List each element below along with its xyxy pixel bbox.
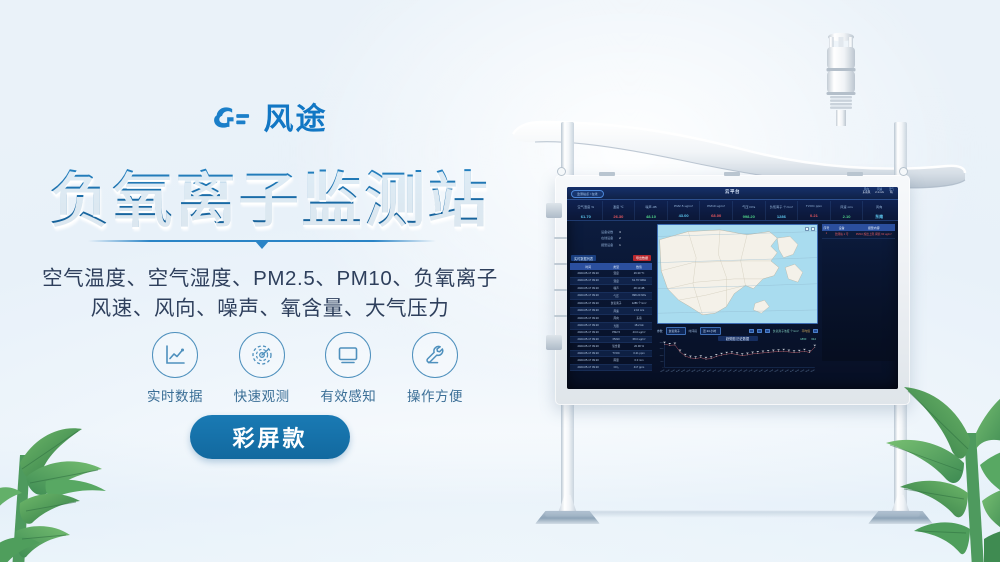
device-counter: 在线设备2 xyxy=(570,236,652,240)
feature-icon-circle xyxy=(152,332,198,378)
svg-text:12:00: 12:00 xyxy=(722,369,727,372)
metric-label: 风速 m/s xyxy=(831,204,863,209)
dashboard-screen[interactable]: 监测站点 / 在线 云平台 风向 东南风 风速 2.1 m/s 天气 xyxy=(567,187,898,389)
dashboard-title: 云平台 xyxy=(567,189,898,195)
svg-text:07:00: 07:00 xyxy=(696,369,701,372)
table-cell: 48.10 dB xyxy=(626,285,652,293)
feature-icon-circle xyxy=(239,332,285,378)
cta-button[interactable]: 彩屏款 xyxy=(190,415,350,459)
mount-tab-icon xyxy=(724,172,740,176)
svg-text:00:00: 00:00 xyxy=(660,369,665,372)
svg-text:02:00: 02:00 xyxy=(671,369,676,372)
chart-view-table-icon[interactable] xyxy=(749,329,754,334)
poster-background: 风途 负氧离子监测站 空气温度、空气湿度、PM2.5、PM10、负氧离子 风速、… xyxy=(0,0,1000,562)
svg-text:03:00: 03:00 xyxy=(676,369,681,372)
metric-card[interactable]: TVOC ppm0.21 xyxy=(798,201,831,220)
svg-text:03:00: 03:00 xyxy=(800,369,805,372)
alarm-col-index: 序号 xyxy=(822,224,831,231)
hanger-eyelet-left-icon xyxy=(557,167,566,176)
table-cell: 2023-05-17 09:20 xyxy=(570,300,606,308)
alarm-col-device: 设备 xyxy=(831,224,853,231)
feature-label: 有效感知 xyxy=(313,385,383,405)
brand-logo: 风途 xyxy=(0,103,540,137)
table-cell: 2023-05-17 09:20 xyxy=(570,322,606,330)
table-cell: 2023-05-17 09:20 xyxy=(570,285,606,293)
svg-text:19:00: 19:00 xyxy=(759,369,764,372)
table-cell: 东南 xyxy=(626,315,652,323)
metric-label: PM2.5 ug/m³ xyxy=(668,204,700,208)
device-counters: 设备总数3在线设备2报警设备1 xyxy=(570,224,652,252)
table-cell: 2023-05-17 09:20 xyxy=(570,270,606,277)
svg-text:24:00: 24:00 xyxy=(785,369,790,372)
svg-text:11:00: 11:00 xyxy=(717,369,722,372)
header-widget: 风向 东南风 xyxy=(863,188,871,194)
table-column-header: 数值 xyxy=(626,263,652,270)
wrench-icon xyxy=(423,343,447,367)
header-widget-value: 晴 xyxy=(889,191,894,194)
display-bezel: 监测站点 / 在线 云平台 风向 东南风 风速 2.1 m/s 天气 xyxy=(555,175,910,405)
device-counter: 报警设备1 xyxy=(570,243,652,247)
export-data-button[interactable]: 导出数据 xyxy=(633,255,651,261)
svg-text:09:00: 09:00 xyxy=(707,369,712,372)
metric-card[interactable]: PM2.5 ug/m³43.00 xyxy=(668,201,701,220)
chart-plot-area: 00:0001:0002:0003:0004:0005:0006:0007:00… xyxy=(657,337,818,375)
metric-value: 998.20 xyxy=(733,214,765,219)
feature-label: 快速观测 xyxy=(227,385,297,405)
chart-range-select[interactable]: 近 24 小时 xyxy=(700,327,721,335)
dashboard-header: 监测站点 / 在线 云平台 风向 东南风 风速 2.1 m/s 天气 xyxy=(567,187,898,200)
alarm-body: 1监测站 1 号PM10 超出上限 阈值 60 ug/m³ xyxy=(822,231,895,239)
feature-item-easy-operation[interactable]: 操作方便 xyxy=(400,332,470,405)
svg-text:20:00: 20:00 xyxy=(764,369,769,372)
table-cell: 2023-05-17 09:20 xyxy=(570,315,606,323)
metric-value: 2.10 xyxy=(831,214,863,219)
metric-cards-row: 空气湿度 %61.70温度 ℃26.30噪声 dB48.10PM2.5 ug/m… xyxy=(567,200,898,221)
table-cell: 温度 xyxy=(606,270,626,277)
metric-card[interactable]: 空气湿度 %61.70 xyxy=(570,201,603,220)
table-cell: 0.0 mm xyxy=(626,357,652,365)
hero-copy-panel: 风途 负氧离子监测站 空气温度、空气湿度、PM2.5、PM10、负氧离子 风速、… xyxy=(0,0,540,562)
table-cell: 雨量 xyxy=(606,357,626,365)
metric-label: 负氧离子 个/cm³ xyxy=(766,204,798,209)
chart-title: 趋势图 历史数据 xyxy=(718,336,758,341)
svg-text:10:00: 10:00 xyxy=(712,369,717,372)
dashboard-body: 设备总数3在线设备2报警设备1 实时数据列表 导出数据 时间类型数值 2023-… xyxy=(567,221,898,373)
table-cell: 1286 个/cm³ xyxy=(626,300,652,308)
monitor-icon xyxy=(336,343,360,367)
table-row[interactable]: 2023-05-17 09:20氧含量20.90 % xyxy=(570,343,652,351)
table-cell: 风速 xyxy=(606,307,626,315)
table-cell: CO₂ xyxy=(606,364,626,371)
metric-label: 空气湿度 % xyxy=(570,204,602,209)
table-row[interactable]: 2023-05-17 09:20光照18.2 klx xyxy=(570,322,652,330)
table-row[interactable]: 2023-05-17 09:20负氧离子1286 个/cm³ xyxy=(570,300,652,308)
svg-text:04:00: 04:00 xyxy=(805,369,810,372)
mount-tab-icon xyxy=(847,172,863,176)
table-cell: 18.2 klx xyxy=(626,322,652,330)
dashboard-left-column: 设备总数3在线设备2报警设备1 实时数据列表 导出数据 时间类型数值 2023-… xyxy=(567,221,655,373)
table-row[interactable]: 2023-05-17 09:20风向东南 xyxy=(570,315,652,323)
chart-controls: 参数 负氧离子 时间段 近 24 小时 负氧离子浓度 个/cm³ 平均值 xyxy=(657,327,818,335)
divider-triangle-icon xyxy=(255,241,269,249)
feature-item-realtime-data[interactable]: 实时数据 xyxy=(140,332,210,405)
table-cell: 湿度 xyxy=(606,277,626,285)
svg-text:05:00: 05:00 xyxy=(810,369,815,372)
header-widget: 天气 晴 xyxy=(889,188,894,194)
counter-value: 1 xyxy=(619,243,621,247)
chart-param-select[interactable]: 负氧离子 xyxy=(666,327,686,335)
svg-text:02:00: 02:00 xyxy=(795,369,800,372)
counter-value: 3 xyxy=(619,230,621,234)
table-cell: 2023-05-17 09:20 xyxy=(570,364,606,371)
dashboard-right-column: 序号 设备 报警内容 1监测站 1 号PM10 超出上限 阈值 60 ug/m³ xyxy=(820,221,898,373)
table-cell: 2023-05-17 09:20 xyxy=(570,307,606,315)
metric-value: 61.70 xyxy=(570,214,602,219)
svg-text:22:00: 22:00 xyxy=(774,369,779,372)
feature-item-fast-observation[interactable]: 快速观测 xyxy=(227,332,297,405)
header-widget: 风速 2.1 m/s xyxy=(875,188,884,194)
metric-label: 噪声 dB xyxy=(635,204,667,209)
vent-slot-icon xyxy=(554,315,567,317)
table-cell: 氧含量 xyxy=(606,343,626,351)
table-cell: 噪声 xyxy=(606,285,626,293)
table-cell: 2023-05-17 09:20 xyxy=(570,343,606,351)
line-chart-icon xyxy=(163,343,187,367)
alarm-cell: 1 xyxy=(822,232,831,236)
vent-slot-icon xyxy=(554,263,567,265)
station-map[interactable] xyxy=(657,224,818,324)
metric-card[interactable]: 风速 m/s2.10 xyxy=(831,201,864,220)
svg-text:17:00: 17:00 xyxy=(748,369,753,372)
svg-text:06:00: 06:00 xyxy=(691,369,696,372)
dashboard-center-column: 参数 负氧离子 时间段 近 24 小时 负氧离子浓度 个/cm³ 平均值 xyxy=(655,221,820,373)
svg-text:1500: 1500 xyxy=(660,348,664,350)
chart-legend-group: 负氧离子浓度 个/cm³ 平均值 xyxy=(749,329,818,334)
table-cell: 2023-05-17 09:20 xyxy=(570,357,606,365)
alarm-row[interactable]: 1监测站 1 号PM10 超出上限 阈值 60 ug/m³ xyxy=(822,231,895,239)
trend-chart[interactable]: 趋势图 历史数据 1860 612 00:0001:0002:0003:0004… xyxy=(657,337,818,375)
table-row[interactable]: 2023-05-17 09:20湿度61.70 %RH xyxy=(570,277,652,285)
post-bracket-top-icon xyxy=(546,203,562,218)
metric-card[interactable]: 气压 hPa998.20 xyxy=(733,201,766,220)
subtitle-line-1: 空气温度、空气湿度、PM2.5、PM10、负氧离子 xyxy=(0,261,540,291)
table-cell: 风向 xyxy=(606,315,626,323)
metric-card[interactable]: PM10 ug/m³68.00 xyxy=(700,201,733,220)
chart-view-bar-icon[interactable] xyxy=(765,329,770,334)
svg-text:500: 500 xyxy=(661,360,664,362)
feature-item-effective-sensing[interactable]: 有效感知 xyxy=(313,332,383,405)
chart-view-line-icon[interactable] xyxy=(757,329,762,334)
svg-text:01:00: 01:00 xyxy=(665,369,670,372)
map-zoom-out-icon[interactable] xyxy=(811,227,815,231)
svg-text:05:00: 05:00 xyxy=(686,369,691,372)
metric-card[interactable]: 风向东南 xyxy=(863,201,895,220)
svg-text:04:00: 04:00 xyxy=(681,369,686,372)
map-zoom-in-icon[interactable] xyxy=(805,227,809,231)
feature-list: 实时数据 快速观测 xyxy=(140,332,470,405)
table-row[interactable]: 2023-05-17 09:20CO₂417 ppm xyxy=(570,364,652,371)
svg-text:0: 0 xyxy=(662,367,663,369)
metric-card[interactable]: 温度 ℃26.30 xyxy=(603,201,636,220)
metric-value: 68.00 xyxy=(700,213,732,218)
metric-card[interactable]: 负氧离子 个/cm³1286 xyxy=(766,201,799,220)
svg-text:21:00: 21:00 xyxy=(769,369,774,372)
china-map-icon xyxy=(658,225,817,323)
svg-text:13:00: 13:00 xyxy=(728,369,733,372)
post-bracket-bottom-icon xyxy=(546,335,562,350)
table-caption: 实时数据列表 xyxy=(571,255,596,262)
svg-text:1000: 1000 xyxy=(660,354,664,356)
svg-text:16:00: 16:00 xyxy=(743,369,748,372)
table-row[interactable]: 2023-05-17 09:20噪声48.10 dB xyxy=(570,285,652,293)
metric-label: 气压 hPa xyxy=(733,204,765,209)
chart-legend-2: 平均值 xyxy=(802,329,810,333)
chart-param-label: 参数 xyxy=(657,329,663,333)
table-cell: 26.30 ℃ xyxy=(626,270,652,277)
table-cell: 20.90 % xyxy=(626,343,652,351)
metric-label: TVOC ppm xyxy=(798,204,830,208)
subtitle-line-2: 风速、风向、噪声、氧含量、大气压力 xyxy=(0,291,540,321)
feature-label: 操作方便 xyxy=(400,385,470,405)
header-widget-value: 2.1 m/s xyxy=(875,191,884,194)
svg-text:23:00: 23:00 xyxy=(779,369,784,372)
counter-label: 报警设备 xyxy=(601,243,613,247)
radar-scan-icon xyxy=(250,343,274,367)
svg-text:01:00: 01:00 xyxy=(790,369,795,372)
table-column-header: 时间 xyxy=(570,263,606,270)
svg-text:15:00: 15:00 xyxy=(738,369,743,372)
table-cell: 2.10 m/s xyxy=(626,307,652,315)
table-row[interactable]: 2023-05-17 09:20雨量0.0 mm xyxy=(570,357,652,365)
metric-value: 48.10 xyxy=(635,214,667,219)
metric-value: 43.00 xyxy=(668,213,700,218)
table-cell: 417 ppm xyxy=(626,364,652,371)
hanger-eyelet-right-icon xyxy=(899,167,908,176)
metric-label: PM10 ug/m³ xyxy=(700,204,732,208)
metric-card[interactable]: 噪声 dB48.10 xyxy=(635,201,668,220)
vent-slot-icon xyxy=(554,289,567,291)
table-row[interactable]: 2023-05-17 09:20气压998.20 hPa xyxy=(570,292,652,300)
monitoring-station-product: 监测站点 / 在线 云平台 风向 东南风 风速 2.1 m/s 天气 xyxy=(505,40,965,540)
page-title: 负氧离子监测站 xyxy=(0,152,540,239)
table-body: 2023-05-17 09:20温度26.30 ℃2023-05-17 09:2… xyxy=(570,270,652,371)
feature-icon-circle xyxy=(412,332,458,378)
feature-label: 实时数据 xyxy=(140,385,210,405)
table-cell: 光照 xyxy=(606,322,626,330)
counter-label: 在线设备 xyxy=(601,236,613,240)
metric-label: 温度 ℃ xyxy=(603,204,635,209)
table-cell: 2023-05-17 09:20 xyxy=(570,277,606,285)
table-header-bar: 实时数据列表 导出数据 xyxy=(570,255,652,262)
header-widget-value: 东南风 xyxy=(863,191,871,194)
ultrasonic-weather-sensor-icon xyxy=(821,28,861,128)
chart-kpis: 1860 612 xyxy=(800,337,816,341)
metric-label: 风向 xyxy=(863,204,895,209)
map-toolbar[interactable] xyxy=(805,227,815,231)
counter-label: 设备总数 xyxy=(601,230,613,234)
feature-icon-circle xyxy=(325,332,371,378)
table-column-header: 类型 xyxy=(606,263,626,270)
metric-value: 1286 xyxy=(766,214,798,219)
chart-range-label: 时间段 xyxy=(689,329,697,333)
cloud-g-logo-icon xyxy=(213,103,255,137)
ground-shadow xyxy=(545,511,920,517)
realtime-data-table[interactable]: 时间类型数值 2023-05-17 09:20温度26.30 ℃2023-05-… xyxy=(570,263,652,371)
alarm-cell: 监测站 1 号 xyxy=(831,232,853,236)
svg-text:18:00: 18:00 xyxy=(753,369,758,372)
table-cell: 负氧离子 xyxy=(606,300,626,308)
alarm-cell: PM10 超出上限 阈值 60 ug/m³ xyxy=(853,232,895,236)
alarm-col-content: 报警内容 xyxy=(853,224,895,231)
header-widgets: 风向 东南风 风速 2.1 m/s 天气 晴 xyxy=(863,188,894,194)
chart-export-button[interactable] xyxy=(813,329,818,334)
metric-value: 0.21 xyxy=(798,213,830,218)
svg-text:14:00: 14:00 xyxy=(733,369,738,372)
table-cell: 998.20 hPa xyxy=(626,292,652,300)
mount-tab-icon xyxy=(599,172,615,176)
divider xyxy=(88,236,436,248)
chart-legend-1: 负氧离子浓度 个/cm³ xyxy=(773,329,799,333)
chart-kpi-max: 1860 xyxy=(800,337,806,341)
table-header-row: 时间类型数值 xyxy=(570,263,652,270)
vent-slot-icon xyxy=(554,237,567,239)
alarm-empty-area xyxy=(822,241,895,361)
table-cell: 2023-05-17 09:20 xyxy=(570,292,606,300)
table-row[interactable]: 2023-05-17 09:20温度26.30 ℃ xyxy=(570,270,652,277)
svg-text:08:00: 08:00 xyxy=(702,369,707,372)
brand-name: 风途 xyxy=(264,105,328,135)
svg-text:2000: 2000 xyxy=(660,342,664,344)
metric-value: 东南 xyxy=(863,214,895,220)
chart-kpi-min: 612 xyxy=(811,337,816,341)
table-cell: 气压 xyxy=(606,292,626,300)
table-cell: 61.70 %RH xyxy=(626,277,652,285)
alarm-header-row: 序号 设备 报警内容 xyxy=(822,224,895,231)
table-row[interactable]: 2023-05-17 09:20风速2.10 m/s xyxy=(570,307,652,315)
metric-value: 26.30 xyxy=(603,214,635,219)
counter-value: 2 xyxy=(619,236,621,240)
device-counter: 设备总数3 xyxy=(570,230,652,234)
